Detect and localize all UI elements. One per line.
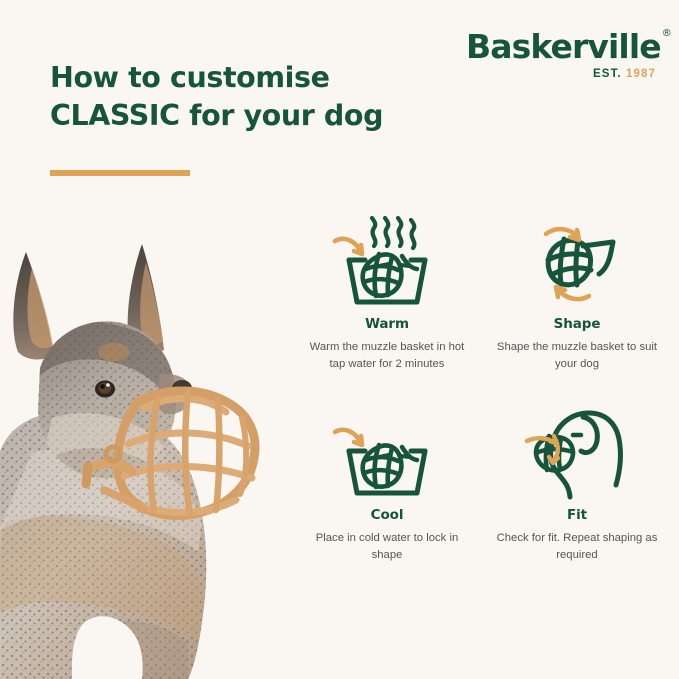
gold-arrow-icon — [335, 239, 362, 254]
dog-photo — [0, 222, 282, 679]
step-fit: Fit Check for fit. Repeat shaping as req… — [482, 401, 672, 564]
steam-lines-icon — [372, 218, 414, 248]
step-shape: Shape Shape the muzzle basket to suit yo… — [482, 210, 672, 373]
logo-wordmark: Baskerville ® — [466, 30, 661, 63]
logo-est-year: 1987 — [626, 68, 656, 80]
basin-steam-muzzle-icon — [333, 210, 441, 314]
page-title-line-2: CLASSIC for your dog — [50, 97, 410, 135]
muzzle-basket-icon — [548, 239, 613, 285]
muzzle-basket-icon — [363, 254, 402, 296]
step-cool: Cool Place in cold water to lock in shap… — [292, 401, 482, 564]
dog-head-muzzle-fit-icon — [523, 401, 631, 505]
step-body: Warm the muzzle basket in hot tap water … — [303, 339, 471, 373]
logo-est-word: EST. — [593, 68, 622, 80]
logo-wordmark-text: Baskerville — [466, 27, 661, 66]
basin-cold-muzzle-icon — [333, 401, 441, 505]
page-title: How to customise CLASSIC for your dog — [50, 59, 410, 135]
steps-grid: Warm Warm the muzzle basket in hot tap w… — [292, 210, 672, 565]
dog-photo-illustration — [0, 222, 282, 679]
step-title: Cool — [371, 507, 404, 523]
step-title: Warm — [365, 316, 409, 332]
brand-logo: Baskerville ® EST. 1987 — [466, 30, 656, 81]
muzzle-basket-icon — [363, 445, 402, 487]
step-title: Fit — [567, 507, 587, 523]
logo-established-line: EST. 1987 — [466, 69, 656, 81]
muzzle-shaping-arrows-icon — [523, 210, 631, 314]
step-title: Shape — [554, 316, 601, 332]
infographic-page: Baskerville ® EST. 1987 How to customise… — [0, 0, 679, 679]
step-body: Shape the muzzle basket to suit your dog — [493, 339, 661, 373]
registered-trademark-icon: ® — [662, 29, 672, 39]
page-title-line-1: How to customise — [50, 59, 410, 97]
title-underline-rule — [50, 170, 190, 176]
step-warm: Warm Warm the muzzle basket in hot tap w… — [292, 210, 482, 373]
step-body: Check for fit. Repeat shaping as require… — [493, 530, 661, 564]
step-body: Place in cold water to lock in shape — [303, 530, 471, 564]
gold-arrow-icon — [335, 430, 362, 445]
